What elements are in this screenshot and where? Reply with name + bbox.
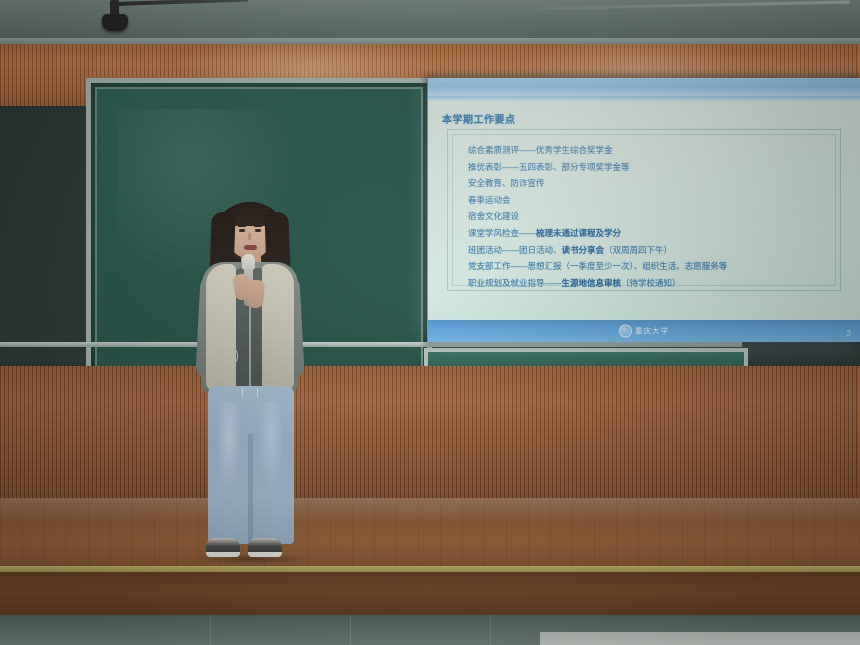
vest-panel-left: [206, 264, 236, 392]
slide-bullet: 综合素质测评——优秀学生综合奖学金: [468, 142, 840, 159]
slide-title: 本学期工作要点: [442, 111, 516, 126]
eyebrow-right: [254, 225, 262, 227]
jeans-fade-left: [216, 402, 242, 492]
projected-slide: 本学期工作要点 综合素质测评——优秀学生综合奖学金 推优表彰——五四表彰、部分专…: [428, 78, 860, 342]
bullet-emphasis: 生源地信息审核: [562, 278, 622, 288]
floor-tile-seam: [210, 615, 211, 645]
bullet-text: 春季运动会: [468, 195, 511, 205]
mouth: [244, 245, 257, 250]
stage-reflection: [0, 498, 860, 522]
bullet-text: 职业规划及就业指导——: [468, 278, 562, 288]
bullet-text: 班团活动——团日活动、: [468, 245, 562, 255]
vest-panel-right: [262, 264, 294, 392]
slide-bullet: 宿舍文化建设: [468, 208, 840, 225]
presenter: [186, 196, 314, 576]
eye-left: [239, 229, 245, 232]
floor-tile-seam: [490, 615, 491, 645]
slide-bullet: 党支部工作——思想汇报（一季度至少一次）、组织生活、志愿服务等: [468, 258, 840, 275]
bullet-tail: （双周周四下午）: [604, 245, 672, 255]
projector-icon: [102, 14, 128, 31]
university-name: 重庆大学: [635, 326, 669, 337]
university-seal-icon: [619, 325, 632, 338]
bullet-text: 课堂学风检查——: [468, 228, 536, 238]
jeans-drawstring: [242, 388, 258, 397]
slide-bullet: 安全教育、防诈宣传: [468, 175, 840, 192]
vest-drawcord: [222, 346, 238, 366]
nose: [248, 233, 251, 240]
bullet-emphasis: 梳理未通过课程及学分: [536, 228, 621, 238]
slide-bullet-list: 综合素质测评——优秀学生综合奖学金 推优表彰——五四表彰、部分专项奖学金等 安全…: [468, 142, 840, 291]
shoe-sole-left: [206, 552, 240, 557]
ceiling: [0, 0, 860, 42]
bullet-text: 党支部工作——思想汇报（一季度至少一次）、组织生活、志愿服务等: [468, 261, 727, 271]
floor-tile-seam: [350, 615, 351, 645]
eyebrow-left: [238, 225, 246, 227]
bullet-text: 综合素质测评——优秀学生综合奖学金: [468, 145, 613, 155]
university-logo: 重庆大学: [619, 325, 669, 338]
bullet-text: 宿舍文化建设: [468, 211, 519, 221]
eye-right: [255, 229, 261, 232]
lower-wood-wall: [0, 366, 860, 506]
slide-footer: 重庆大学 3: [428, 320, 860, 342]
jeans-fade-right: [258, 402, 284, 492]
slide-page-number: 3: [847, 329, 851, 338]
slide-bullet: 春季运动会: [468, 192, 840, 209]
bullet-emphasis: 读书分享会: [562, 245, 605, 255]
classroom-photo: 本学期工作要点 综合素质测评——优秀学生综合奖学金 推优表彰——五四表彰、部分专…: [0, 0, 860, 645]
bullet-text: 安全教育、防诈宣传: [468, 178, 545, 188]
slide-bullet: 职业规划及就业指导——生源地信息审核（待学校通知）: [468, 275, 840, 292]
shoe-sole-right: [248, 552, 282, 557]
slide-bullet: 班团活动——团日活动、读书分享会（双周周四下午）: [468, 242, 840, 259]
bullet-tail: （待学校通知）: [621, 278, 681, 288]
slide-header-band: [428, 78, 860, 101]
floor-light-strip: [540, 632, 860, 645]
stage-platform-face: [0, 572, 860, 616]
bullet-text: 推优表彰——五四表彰、部分专项奖学金等: [468, 162, 630, 172]
slide-bullet: 推优表彰——五四表彰、部分专项奖学金等: [468, 159, 840, 176]
jeans-inseam: [248, 434, 253, 544]
slide-bullet: 课堂学风检查——梳理未通过课程及学分: [468, 225, 840, 242]
